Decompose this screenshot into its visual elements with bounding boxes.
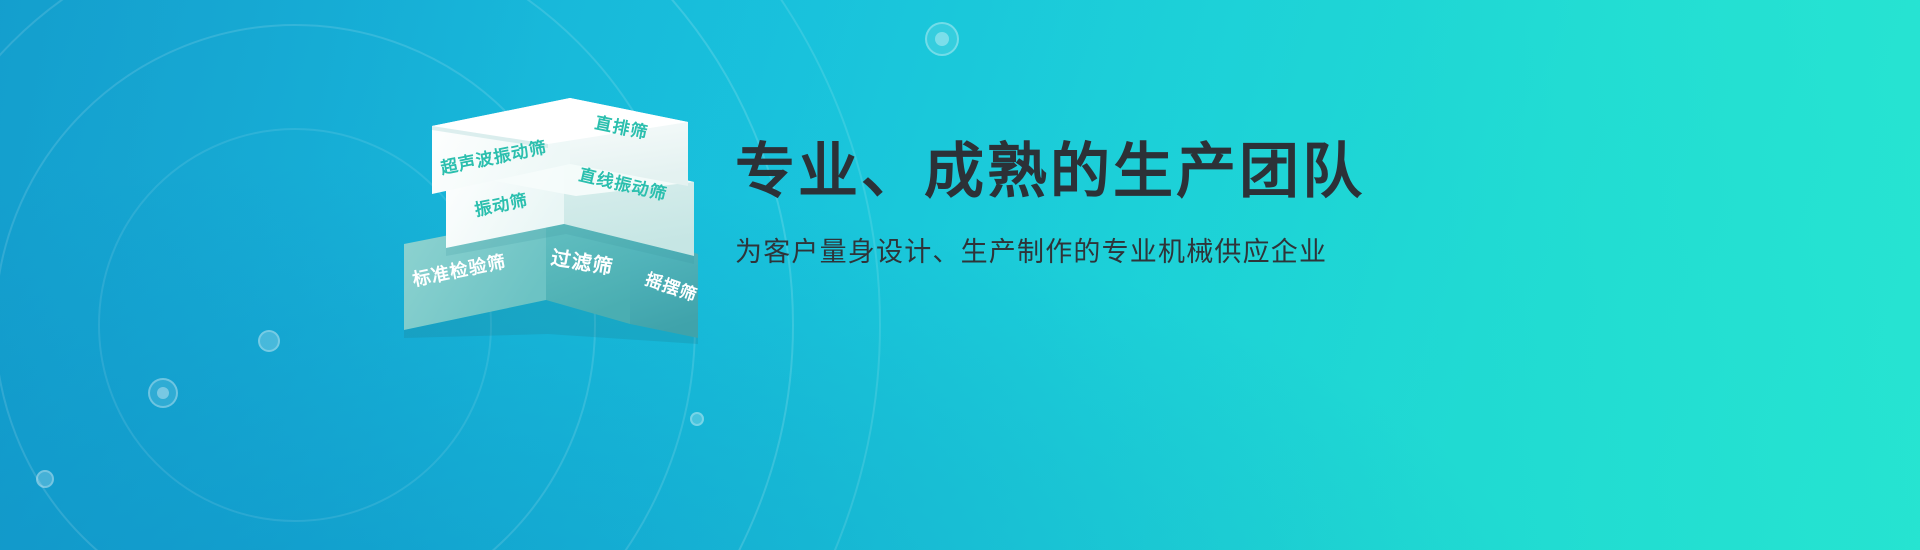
- stacked-cube-graphic: 超声波振动筛 直排筛 振动筛 直线振动筛 标准检验筛 过滤筛 摇摆筛: [398, 48, 718, 348]
- bubble-top-right-icon: [925, 22, 959, 56]
- bubble-bottom-left-icon: [36, 470, 54, 488]
- banner-subheadline: 为客户量身设计、生产制作的专业机械供应企业: [735, 235, 1415, 270]
- banner-copy: 专业、成熟的生产团队 为客户量身设计、生产制作的专业机械供应企业: [735, 140, 1415, 270]
- bubble-lower-left-icon: [148, 378, 178, 408]
- bubble-mid-left-icon: [258, 330, 280, 352]
- bubble-bottom-small-icon: [690, 412, 704, 426]
- banner-headline: 专业、成熟的生产团队: [735, 140, 1415, 205]
- hero-banner: 超声波振动筛 直排筛 振动筛 直线振动筛 标准检验筛 过滤筛 摇摆筛 专业、成熟…: [0, 0, 1920, 550]
